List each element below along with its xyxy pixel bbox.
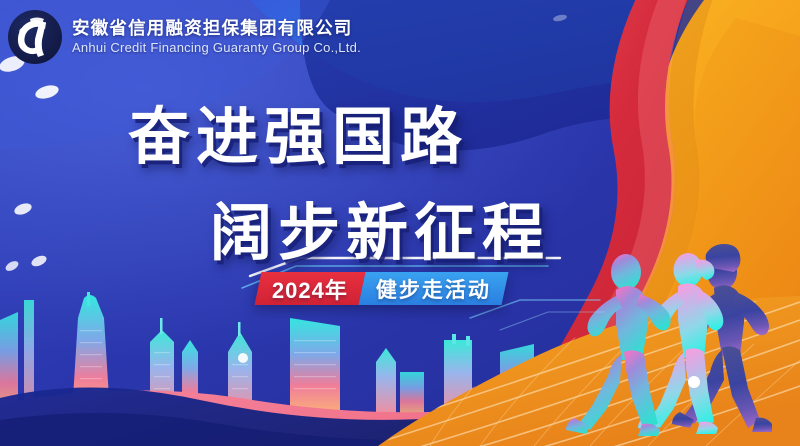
- headline: 奋进强国路 阔步新征程: [0, 86, 700, 272]
- headline-line-1: 奋进强国路: [128, 86, 700, 176]
- subtitle-ribbon: 2024年 健步走活动: [254, 272, 508, 305]
- brand-lockup: 安徽省信用融资担保集团有限公司 Anhui Credit Financing G…: [8, 10, 361, 64]
- promotional-banner: 安徽省信用融资担保集团有限公司 Anhui Credit Financing G…: [0, 0, 800, 446]
- stylized-g-calligraphy-icon: [8, 10, 62, 64]
- ribbon-event-label: 健步走活动: [376, 274, 491, 304]
- company-name-cn: 安徽省信用融资担保集团有限公司: [72, 19, 361, 37]
- brand-text: 安徽省信用融资担保集团有限公司 Anhui Credit Financing G…: [72, 19, 361, 54]
- ribbon-year-label: 2024年: [272, 273, 348, 305]
- ribbon-year-segment: 2024年: [254, 272, 365, 305]
- ribbon-event-segment: 健步走活动: [358, 272, 508, 305]
- headline-line-2: 阔步新征程: [210, 182, 700, 272]
- company-name-en: Anhui Credit Financing Guaranty Group Co…: [72, 41, 361, 55]
- company-logo: [8, 10, 62, 64]
